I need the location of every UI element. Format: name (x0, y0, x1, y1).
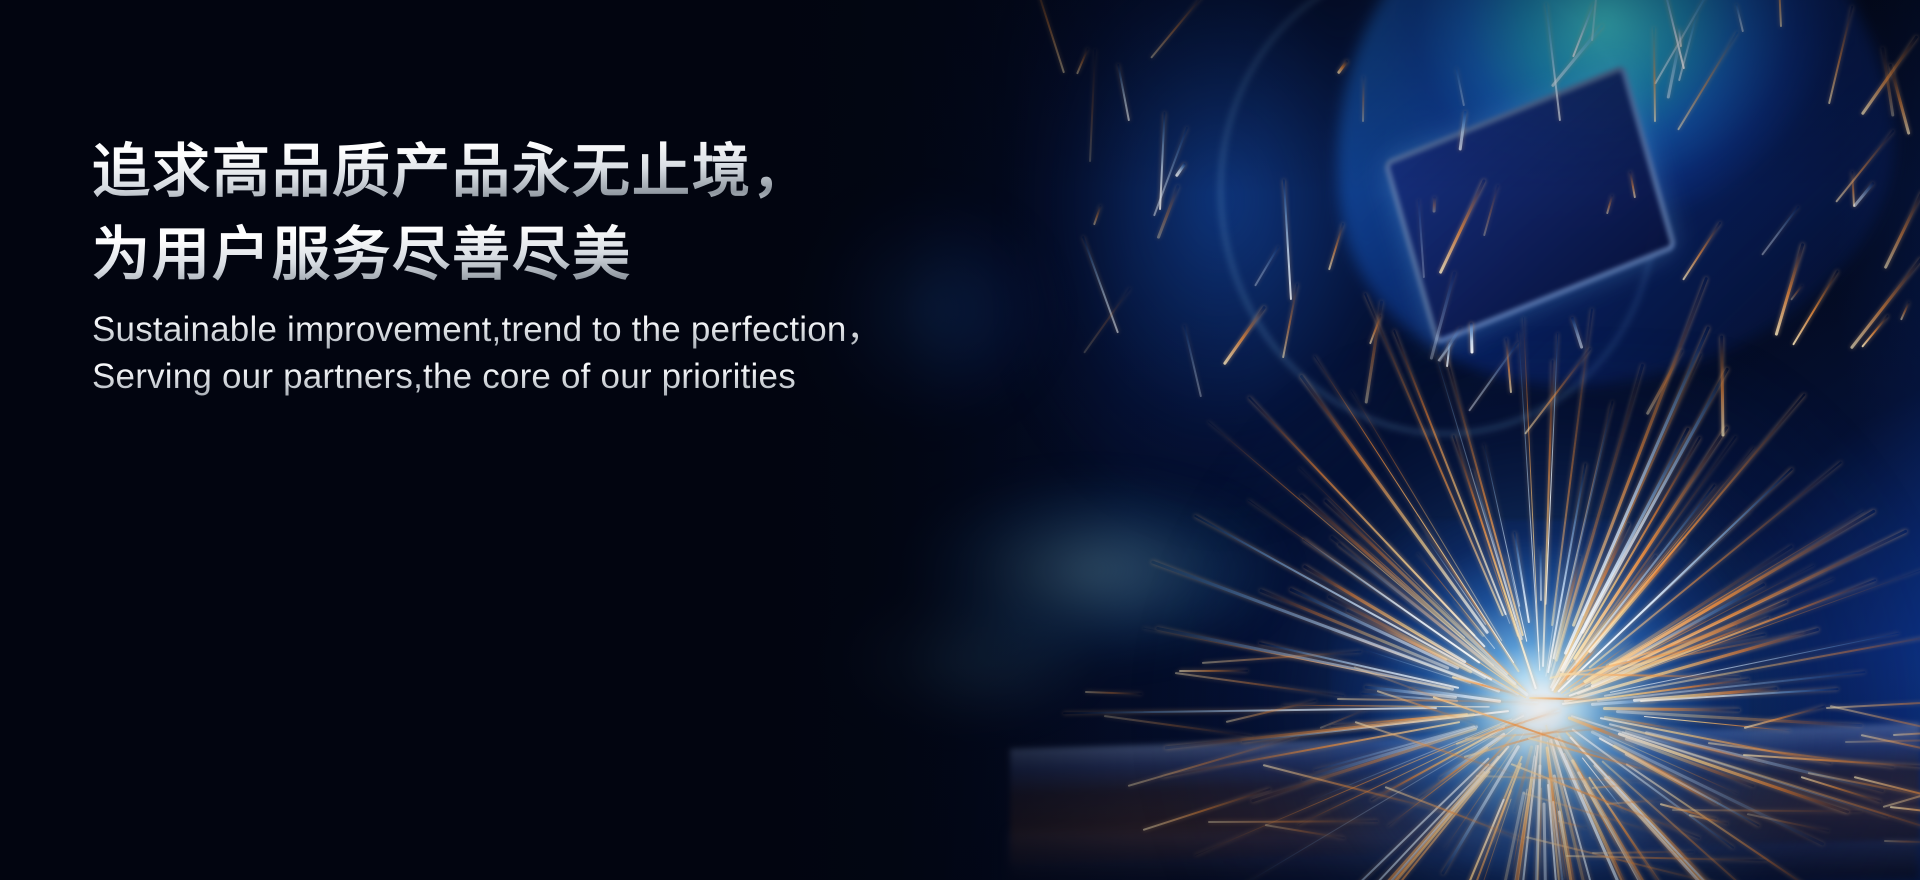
headline-zh-line2: 为用户服务尽善尽美 (92, 217, 1072, 294)
vertical-fade-veil (0, 0, 1920, 880)
subheadline-en-line2: Serving our partners,the core of our pri… (92, 354, 1072, 401)
welding-photo-background (0, 0, 1920, 880)
hero-copy: 追求高品质产品永无止境， 为用户服务尽善尽美 Sustainable impro… (92, 134, 1072, 401)
subheadline-en-line1: Sustainable improvement,trend to the per… (92, 307, 1072, 354)
hero-banner: 追求高品质产品永无止境， 为用户服务尽善尽美 Sustainable impro… (0, 0, 1920, 880)
headline-zh-line1: 追求高品质产品永无止境， (92, 134, 1072, 211)
